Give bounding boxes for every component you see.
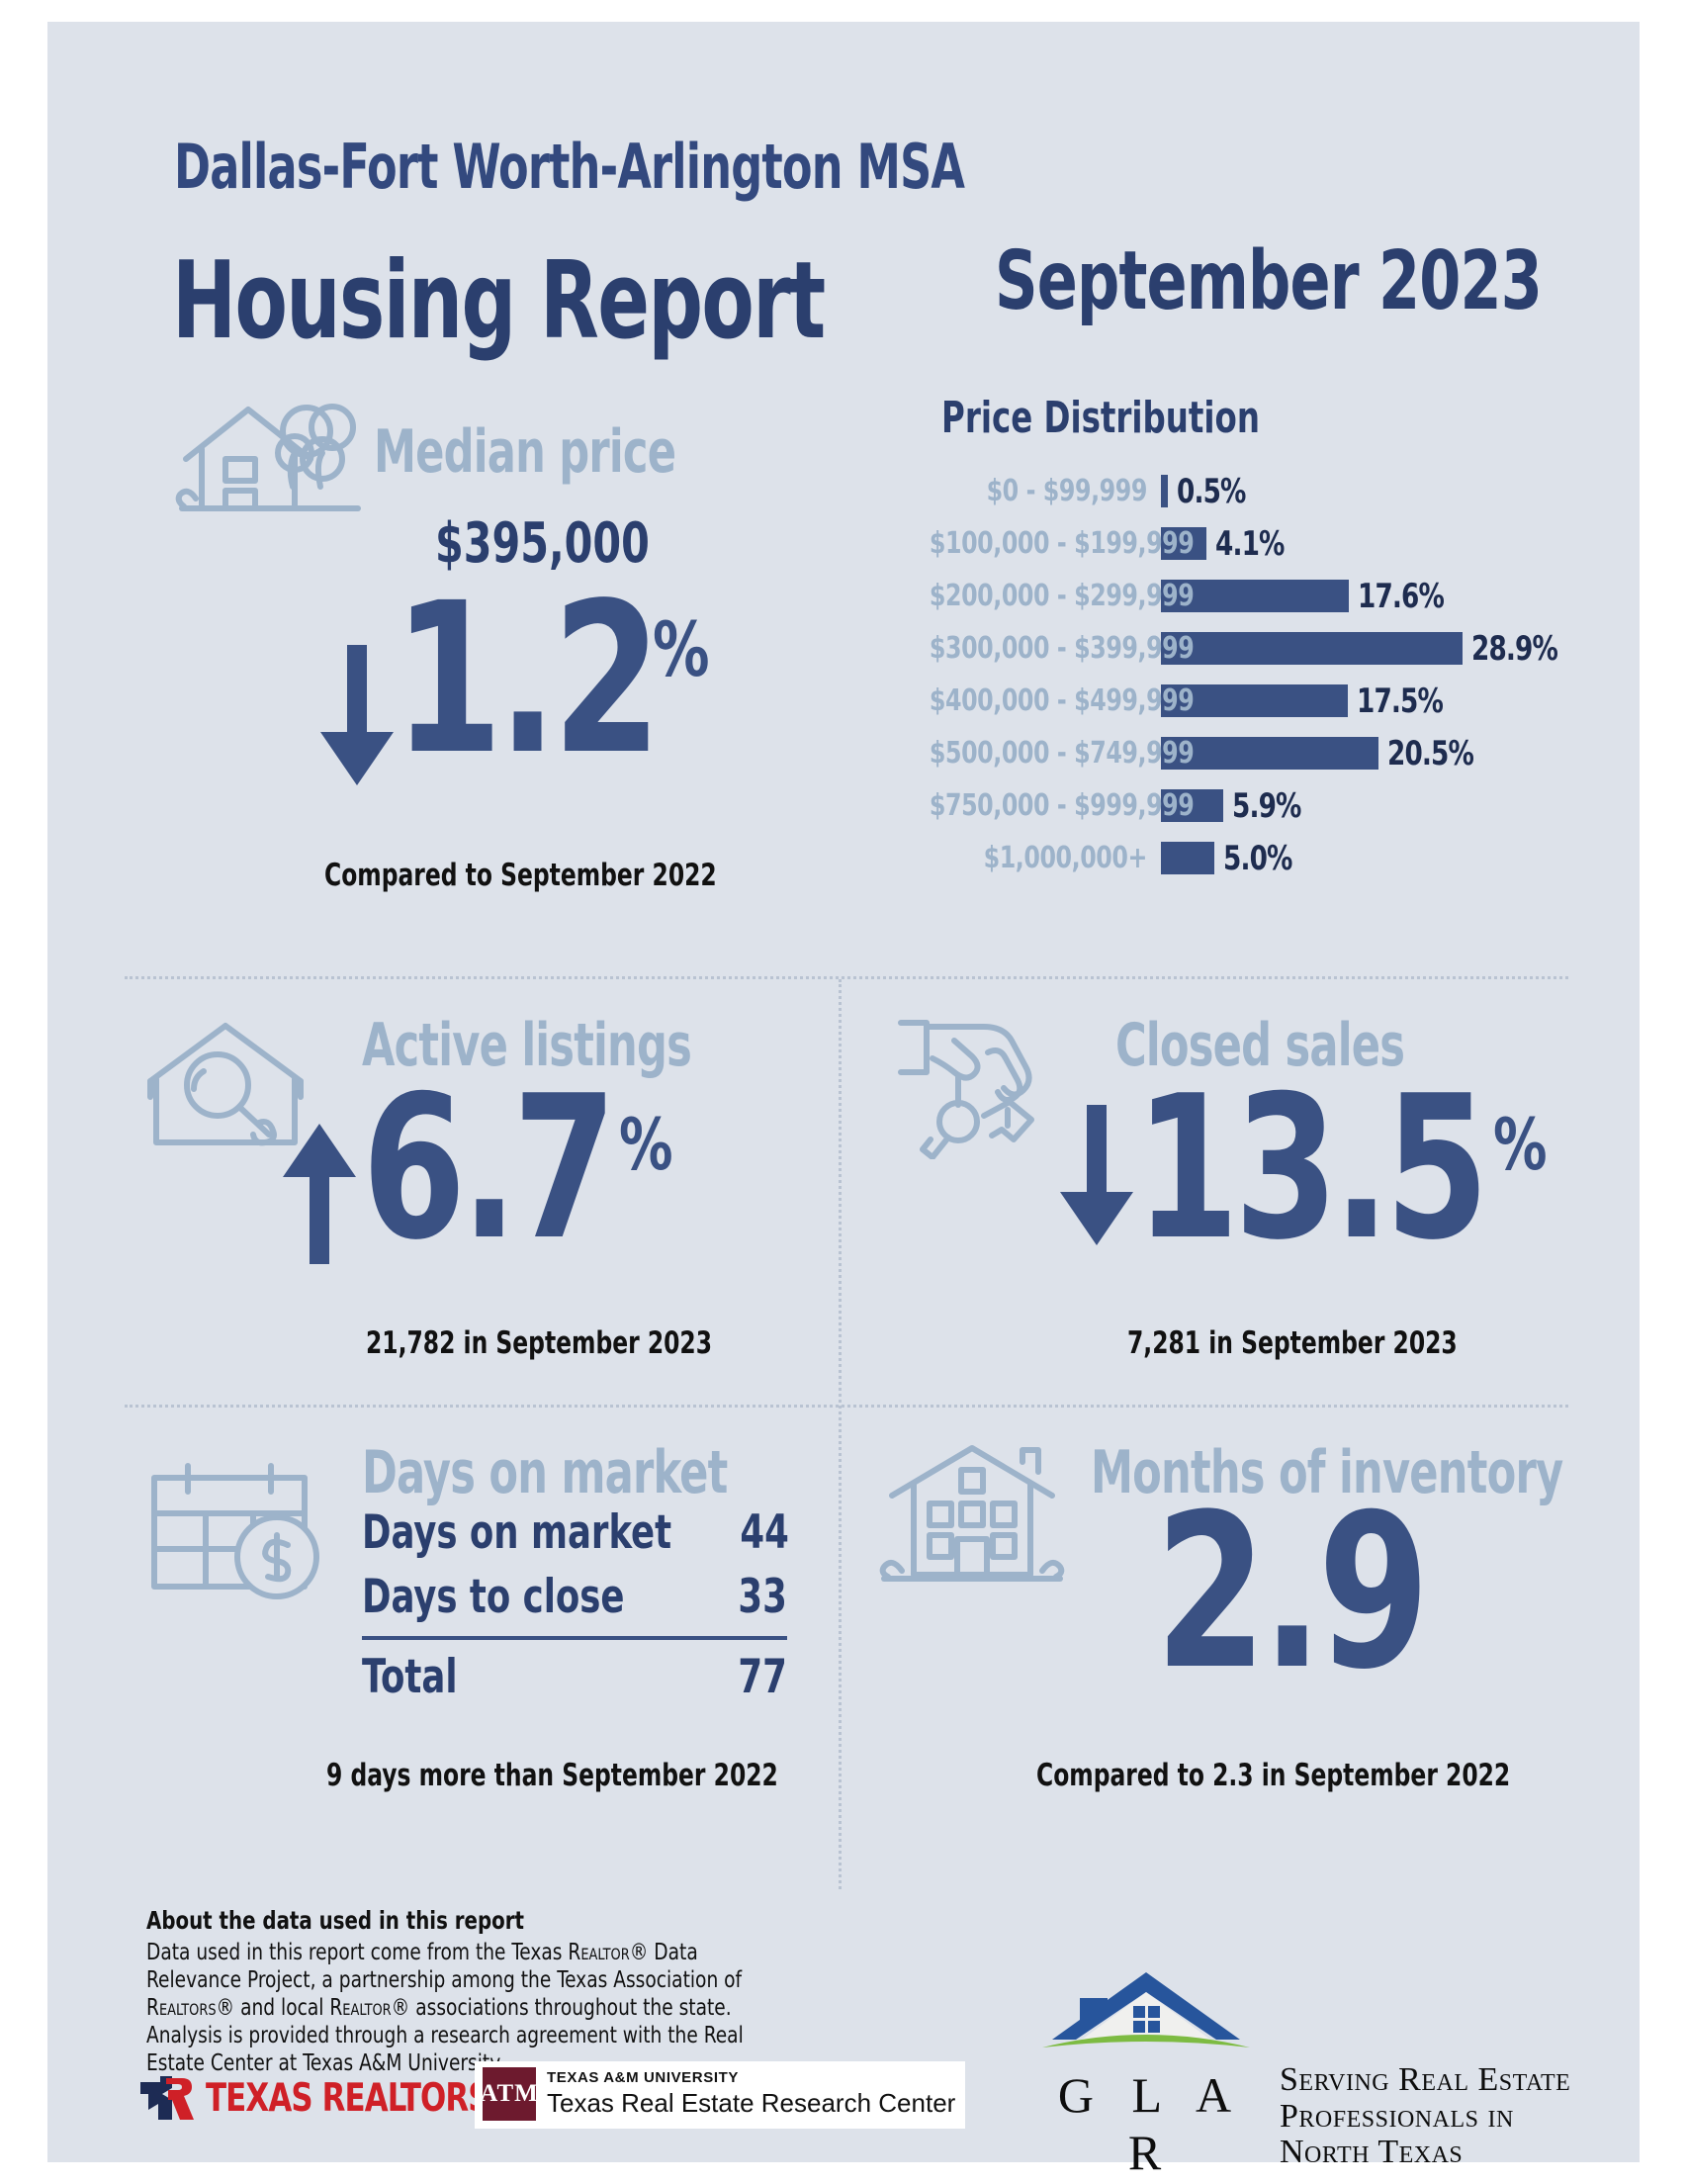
arrow-down-icon [1054, 1105, 1139, 1256]
closed-sales-change: 13.5 [1135, 1070, 1484, 1268]
about-body: Data used in this report come from the T… [146, 1939, 760, 2077]
price-distribution-row: $400,000 - $499,999 17.5% [898, 675, 1551, 727]
price-range-value: 5.0% [1223, 839, 1292, 878]
glar-logo: G L A R Serving Real Estate Professional… [1036, 1968, 1570, 2181]
median-price-label: Median price [374, 417, 675, 487]
report-month: September 2023 [995, 234, 1542, 328]
about-heading: About the data used in this report [146, 1906, 524, 1935]
house-tree-icon [174, 388, 372, 526]
price-range-bar [1161, 632, 1463, 665]
report-sheet: Dallas-Fort Worth-Arlington MSA Housing … [47, 22, 1640, 2162]
row-value: 44 [740, 1505, 788, 1560]
price-range-value: 0.5% [1177, 472, 1246, 511]
apartment-building-icon [878, 1436, 1066, 1599]
price-range-value: 4.1% [1215, 524, 1285, 564]
table-rule [362, 1636, 787, 1640]
total-value: 77 [739, 1650, 787, 1704]
price-range-label: $100,000 - $199,999 [930, 526, 1161, 561]
tamu-center-name: Texas Real Estate Research Center [547, 2088, 955, 2119]
divider-horizontal-bottom [125, 1405, 1568, 1408]
price-distribution-row: $100,000 - $199,999 4.1% [898, 517, 1551, 570]
arrow-down-icon [314, 645, 400, 796]
price-distribution-row: $0 - $99,999 0.5% [898, 465, 1551, 517]
msa-title: Dallas-Fort Worth-Arlington MSA [174, 131, 964, 203]
price-range-label: $0 - $99,999 [930, 474, 1161, 508]
price-range-label: $750,000 - $999,999 [930, 788, 1161, 823]
days-on-market-subtext: 9 days more than September 2022 [326, 1758, 778, 1793]
row-value: 33 [739, 1570, 787, 1624]
texas-realtors-logo: TEXAS REALTORS [138, 2074, 528, 2122]
glar-tagline-line3: North Texas [1280, 2135, 1570, 2171]
total-label: Total [362, 1650, 458, 1704]
glar-tagline-line1: Serving Real Estate [1280, 2062, 1570, 2099]
arrow-up-icon [277, 1120, 362, 1271]
months-of-inventory-subtext: Compared to 2.3 in September 2022 [1036, 1758, 1510, 1793]
page-title: Housing Report [172, 239, 825, 363]
closed-sales-subtext: 7,281 in September 2023 [1127, 1325, 1458, 1361]
price-range-label: $500,000 - $749,999 [930, 736, 1161, 771]
price-range-value: 5.9% [1232, 786, 1301, 826]
median-price-change: 1.2 [394, 576, 657, 783]
table-row-total: Total 77 [362, 1650, 787, 1704]
price-range-label: $200,000 - $299,999 [930, 579, 1161, 613]
divider-horizontal-top [125, 976, 1568, 979]
table-row: Days to close 33 [362, 1570, 787, 1624]
price-distribution-chart: $0 - $99,999 0.5% $100,000 - $199,999 4.… [898, 465, 1551, 884]
hand-keys-icon [893, 1011, 1056, 1164]
days-on-market-label: Days on market [362, 1438, 727, 1507]
closed-sales-percent-sign: % [1493, 1103, 1548, 1186]
price-distribution-row: $1,000,000+ 5.0% [898, 832, 1551, 884]
median-price-subtext: Compared to September 2022 [324, 858, 717, 893]
row-label: Days on market [362, 1505, 671, 1560]
price-distribution-row: $200,000 - $299,999 17.6% [898, 570, 1551, 622]
housing-report-page: Dallas-Fort Worth-Arlington MSA Housing … [0, 0, 1687, 2184]
price-range-label: $300,000 - $399,999 [930, 631, 1161, 666]
glar-tagline: Serving Real Estate Professionals in Nor… [1280, 2062, 1570, 2171]
active-listings-subtext: 21,782 in September 2023 [366, 1325, 712, 1361]
price-range-value: 20.5% [1387, 734, 1473, 773]
glar-house-icon [1036, 1968, 1256, 2063]
tamu-logo: ATM TEXAS A&M UNIVERSITY Texas Real Esta… [475, 2061, 965, 2129]
divider-vertical [839, 979, 842, 1889]
price-range-value: 28.9% [1471, 629, 1557, 669]
active-listings-percent-sign: % [619, 1103, 673, 1186]
median-price-percent-sign: % [653, 605, 710, 693]
glar-tagline-line2: Professionals in [1280, 2099, 1570, 2136]
price-range-value: 17.6% [1358, 577, 1444, 616]
price-range-label: $400,000 - $499,999 [930, 683, 1161, 718]
tamu-university-label: TEXAS A&M UNIVERSITY [547, 2069, 955, 2086]
days-on-market-table: Days on market 44 Days to close 33 Total… [362, 1505, 787, 1704]
price-range-bar [1161, 842, 1214, 874]
months-of-inventory-value: 2.9 [1155, 1486, 1425, 1698]
price-distribution-row: $750,000 - $999,999 5.9% [898, 779, 1551, 832]
row-label: Days to close [362, 1570, 625, 1624]
tamu-mark-icon: ATM [483, 2067, 536, 2121]
table-row: Days on market 44 [362, 1505, 787, 1560]
price-distribution-title: Price Distribution [941, 393, 1260, 443]
active-listings-change: 6.7 [362, 1070, 612, 1268]
price-distribution-row: $500,000 - $749,999 20.5% [898, 727, 1551, 779]
texas-realtors-mark-icon [138, 2074, 194, 2122]
price-range-label: $1,000,000+ [930, 841, 1161, 875]
price-range-bar [1161, 475, 1168, 507]
price-distribution-row: $300,000 - $399,999 28.9% [898, 622, 1551, 675]
glar-wordmark: G L A R [1036, 2066, 1256, 2181]
texas-realtors-wordmark: TEXAS REALTORS [206, 2076, 489, 2121]
calendar-dollar-icon [146, 1458, 324, 1606]
price-range-value: 17.5% [1357, 682, 1443, 721]
